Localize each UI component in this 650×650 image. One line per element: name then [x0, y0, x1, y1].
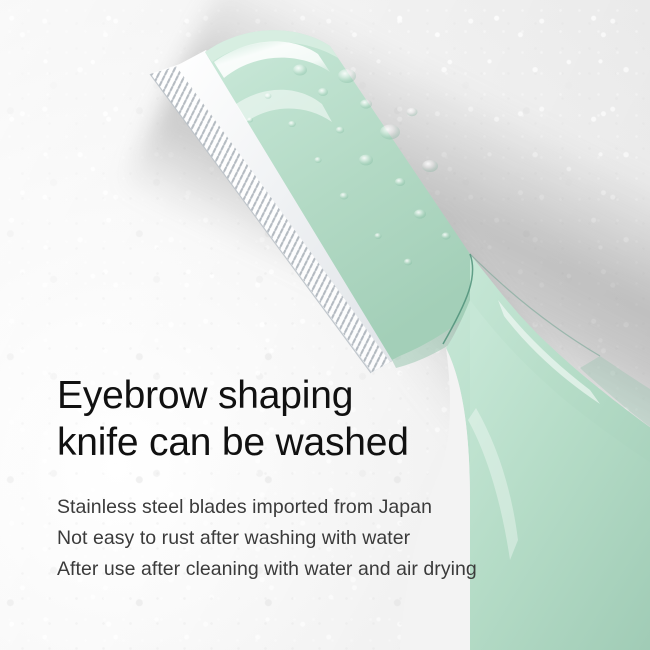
- headline: Eyebrow shaping knife can be washed: [57, 372, 597, 466]
- product-banner: Eyebrow shaping knife can be washed Stai…: [0, 0, 650, 650]
- feature-list: Stainless steel blades imported from Jap…: [57, 492, 597, 585]
- feature-item-1: Stainless steel blades imported from Jap…: [57, 492, 597, 523]
- marketing-copy: Eyebrow shaping knife can be washed Stai…: [57, 372, 597, 585]
- feature-item-2: Not easy to rust after washing with wate…: [57, 523, 597, 554]
- feature-item-3: After use after cleaning with water and …: [57, 554, 597, 585]
